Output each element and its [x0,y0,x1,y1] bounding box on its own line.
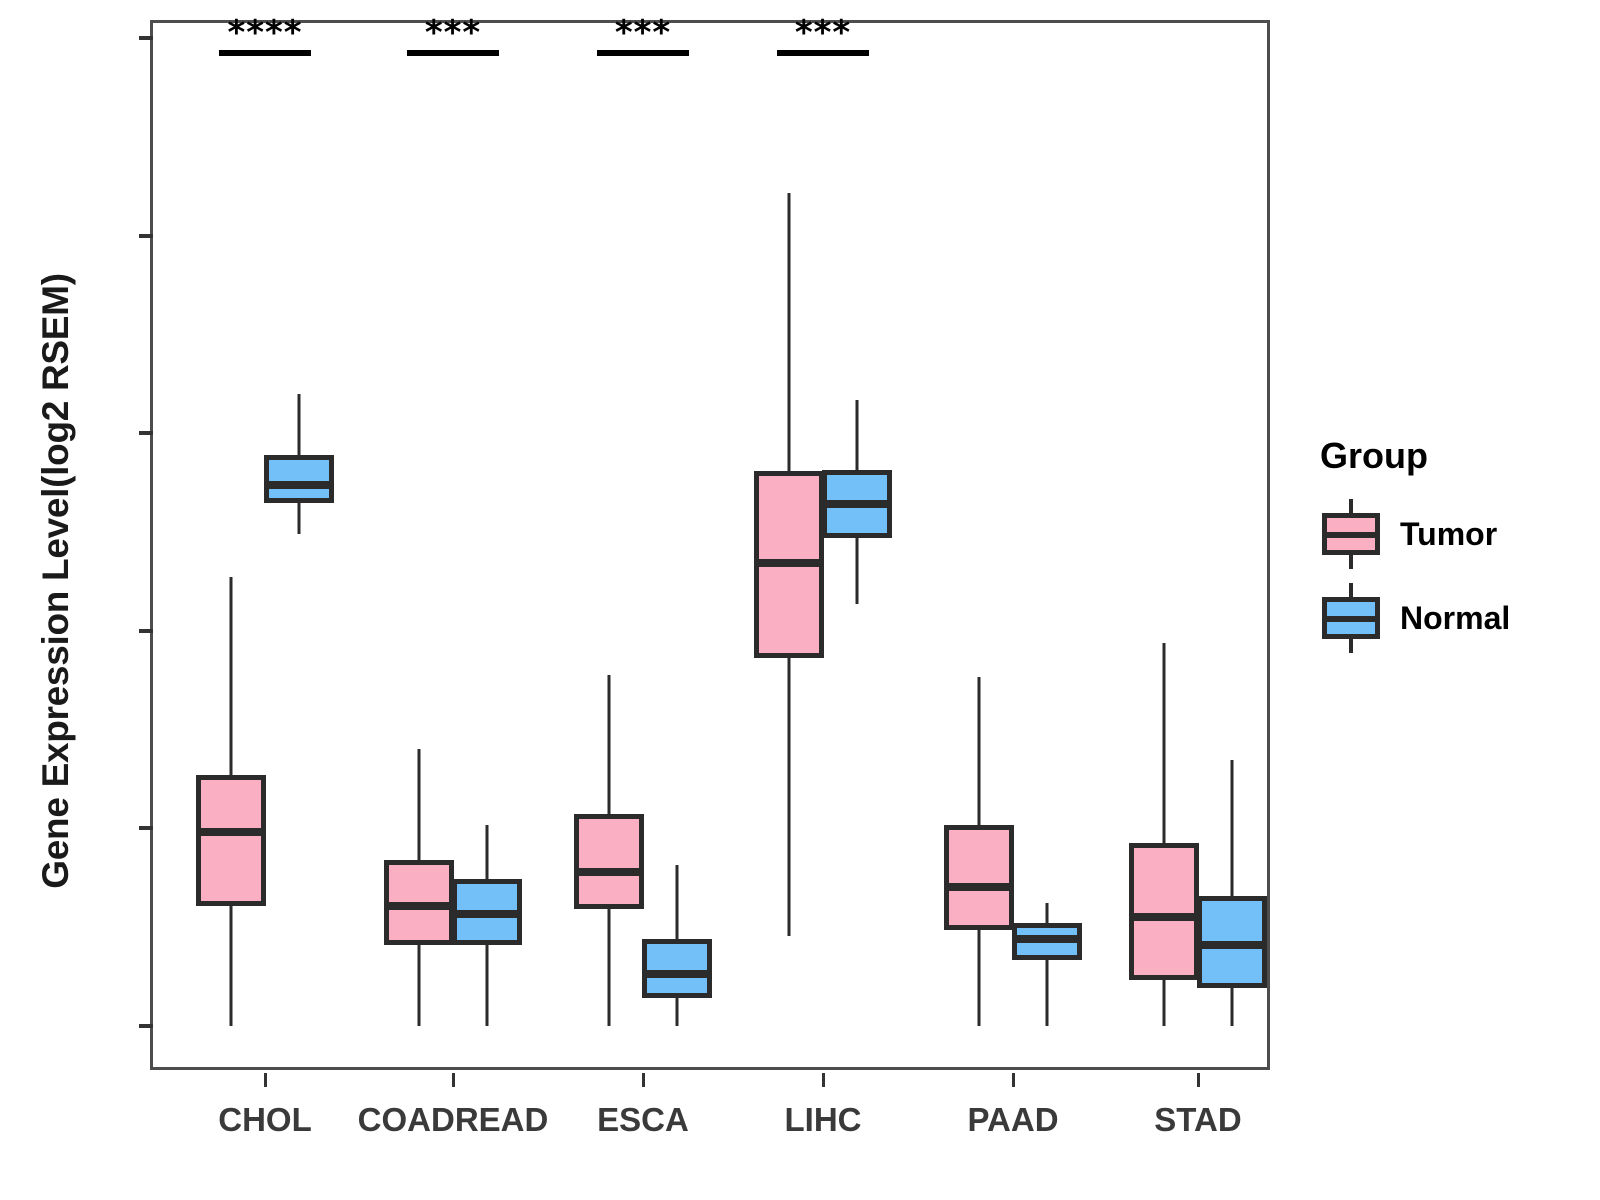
x-axis-tick [1012,1073,1015,1087]
legend-item-tumor[interactable]: Tumor [1320,499,1590,569]
significance-label-chol: **** [175,16,355,50]
y-axis-tick [139,431,153,435]
significance-label-coadread: *** [363,16,543,50]
y-axis-tick [139,1024,153,1028]
legend: Group TumorNormal [1320,435,1590,667]
plot-panel: 0.02.55.07.510.012.5CHOLCOADREADESCALIHC… [150,20,1270,1070]
median-line [1197,941,1267,949]
legend-title: Group [1320,435,1590,477]
y-axis-tick [139,629,153,633]
boxplot-figure: Gene Expression Level(log2 RSEM) 0.02.55… [0,0,1600,1200]
legend-label: Normal [1400,600,1510,637]
plot-area: 0.02.55.07.510.012.5CHOLCOADREADESCALIHC… [153,23,1267,1067]
significance-label-esca: *** [553,16,733,50]
x-axis-tick [264,1073,267,1087]
boxplot-stad-normal [153,23,1267,1067]
x-axis-tick-label-stad: STAD [1048,1101,1348,1139]
legend-key-icon [1320,499,1382,569]
y-axis-tick [139,826,153,830]
legend-label: Tumor [1400,516,1497,553]
x-axis-tick [452,1073,455,1087]
y-axis-title: Gene Expression Level(log2 RSEM) [35,181,77,981]
legend-items: TumorNormal [1320,499,1590,653]
x-axis-tick [822,1073,825,1087]
y-axis-tick [139,36,153,40]
legend-item-normal[interactable]: Normal [1320,583,1590,653]
x-axis-tick [642,1073,645,1087]
legend-key-icon [1320,583,1382,653]
y-axis-tick [139,234,153,238]
significance-label-lihc: *** [733,16,913,50]
x-axis-tick [1197,1073,1200,1087]
